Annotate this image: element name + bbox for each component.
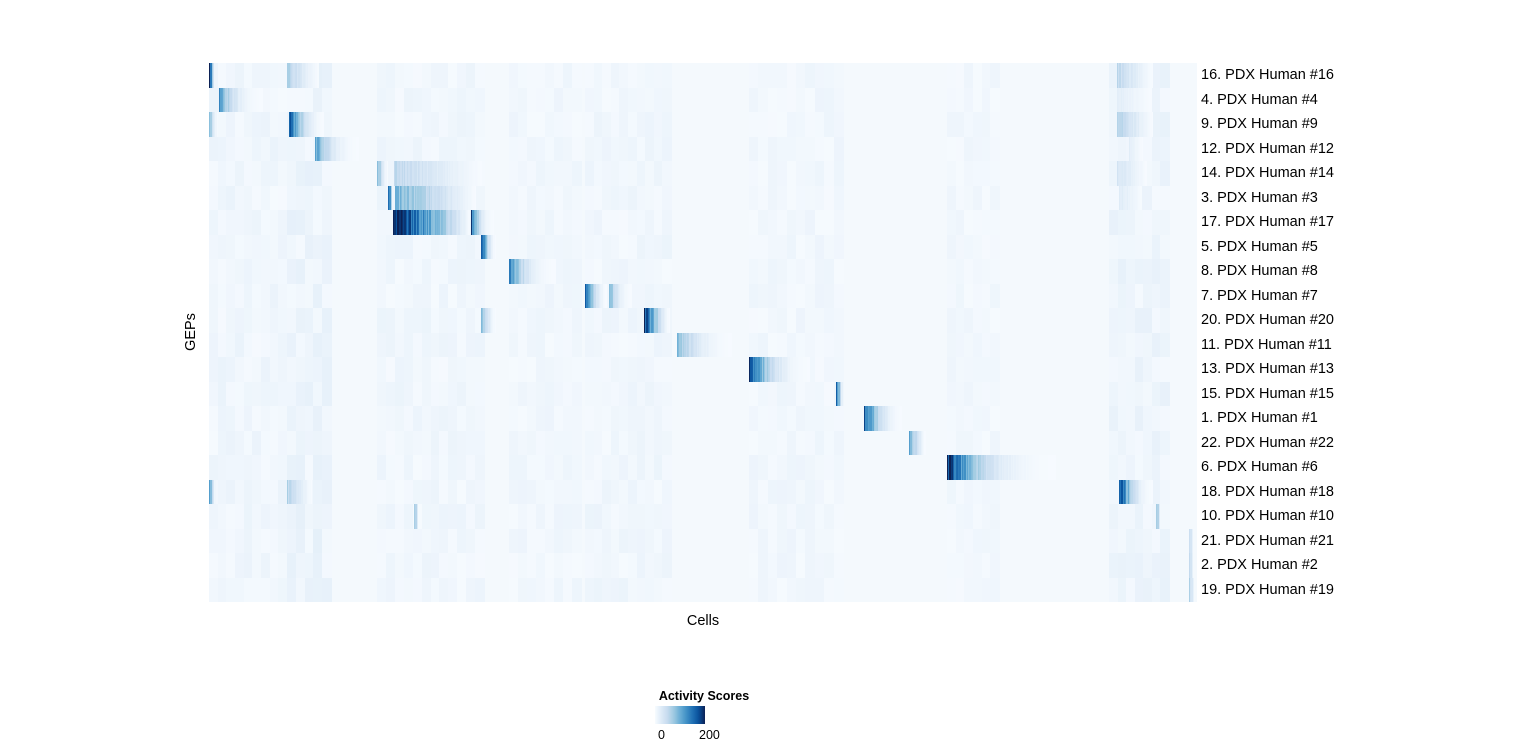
heatmap-cell — [475, 480, 485, 505]
heatmap-cell — [834, 137, 844, 162]
heatmap-cell — [834, 406, 844, 431]
heatmap-cell — [834, 553, 844, 578]
heatmap-cell — [990, 333, 999, 358]
heatmap-cell — [834, 235, 844, 260]
row-label: 3. PDX Human #3 — [1201, 191, 1318, 206]
heatmap-cell — [662, 88, 671, 113]
row-label: 19. PDX Human #19 — [1201, 583, 1334, 598]
heatmap-cell — [662, 553, 671, 578]
heatmap-cell — [322, 382, 331, 407]
heatmap-cell — [322, 259, 331, 284]
heatmap-cell — [990, 578, 999, 603]
heatmap-cell — [834, 357, 844, 382]
heatmap-cell — [572, 235, 582, 260]
heatmap-cell — [605, 284, 607, 309]
heatmap-cell — [572, 382, 582, 407]
heatmap-cell — [990, 382, 999, 407]
heatmap-cell — [841, 382, 843, 407]
heatmap-cell — [475, 259, 485, 284]
heatmap-cell — [900, 406, 902, 431]
heatmap-cell — [990, 357, 999, 382]
heatmap-cell — [1160, 284, 1169, 309]
heatmap-cell — [572, 284, 582, 309]
heatmap-cell — [480, 161, 482, 186]
heatmap-cell — [1160, 480, 1169, 505]
heatmap-cell — [572, 480, 582, 505]
heatmap-cell — [1160, 210, 1169, 235]
heatmap-cell — [475, 431, 485, 456]
heatmap-cell — [662, 529, 671, 554]
heatmap-cell — [572, 63, 582, 88]
heatmap-cell — [1159, 504, 1161, 529]
heatmap-cell — [572, 333, 582, 358]
heatmap-cell — [662, 112, 671, 137]
heatmap-row — [209, 235, 1197, 260]
heatmap-cell — [572, 210, 582, 235]
heatmap-cell — [1160, 431, 1169, 456]
heatmap-cell — [1192, 553, 1194, 578]
heatmap-cell — [834, 210, 844, 235]
heatmap-cell — [475, 504, 485, 529]
heatmap-cell — [834, 333, 844, 358]
heatmap-cell — [572, 112, 582, 137]
heatmap-cell — [1160, 63, 1169, 88]
heatmap-cell — [572, 553, 582, 578]
heatmap-cell — [357, 137, 359, 162]
heatmap-cell — [662, 186, 671, 211]
heatmap-cell — [1160, 578, 1169, 603]
row-label: 20. PDX Human #20 — [1201, 313, 1334, 328]
y-axis-label: GEPs — [183, 312, 199, 352]
heatmap-cell — [834, 455, 844, 480]
heatmap-cell — [1160, 333, 1169, 358]
row-label: 4. PDX Human #4 — [1201, 93, 1318, 108]
row-label: 21. PDX Human #21 — [1201, 534, 1334, 549]
heatmap-cell — [475, 406, 485, 431]
heatmap-cell — [475, 284, 485, 309]
heatmap-cell — [1160, 259, 1169, 284]
heatmap-cell — [322, 333, 331, 358]
heatmap-cell — [1160, 553, 1169, 578]
heatmap-row — [209, 161, 1197, 186]
heatmap-figure: GEPs Cells 16. PDX Human #164. PDX Human… — [0, 0, 1540, 743]
heatmap-cell — [322, 112, 324, 137]
heatmap-cell — [1192, 529, 1194, 554]
heatmap-cell — [990, 210, 999, 235]
heatmap-cell — [322, 480, 331, 505]
heatmap-row — [209, 137, 1197, 162]
heatmap-cell — [572, 259, 582, 284]
heatmap-cell — [1160, 357, 1169, 382]
heatmap-cell — [572, 186, 582, 211]
heatmap-cell — [662, 382, 671, 407]
row-label: 7. PDX Human #7 — [1201, 289, 1318, 304]
heatmap-cell — [834, 88, 844, 113]
x-axis-label: Cells — [209, 613, 1197, 629]
heatmap-cell — [1150, 88, 1152, 113]
heatmap-cell — [572, 357, 582, 382]
heatmap-cell — [475, 553, 485, 578]
heatmap-cell — [417, 504, 419, 529]
heatmap-cell — [475, 357, 485, 382]
heatmap-cell — [475, 529, 485, 554]
heatmap-cell — [572, 431, 582, 456]
heatmap-cell — [214, 63, 216, 88]
heatmap-row — [209, 480, 1197, 505]
heatmap-row — [209, 529, 1197, 554]
heatmap-cell — [834, 259, 844, 284]
heatmap-cell — [990, 63, 999, 88]
row-label: 13. PDX Human #13 — [1201, 362, 1334, 377]
heatmap-cell — [475, 382, 485, 407]
heatmap-row — [209, 406, 1197, 431]
heatmap-row — [209, 112, 1197, 137]
heatmap-cell — [834, 63, 844, 88]
heatmap-cell — [322, 308, 331, 333]
colorbar-tick-label: 0 — [658, 728, 665, 742]
heatmap-cell — [475, 455, 485, 480]
heatmap-cell — [322, 235, 331, 260]
heatmap-cell — [322, 529, 331, 554]
heatmap-cell — [1160, 235, 1169, 260]
row-label: 17. PDX Human #17 — [1201, 215, 1334, 230]
heatmap-cell — [475, 186, 485, 211]
heatmap-cell — [1160, 406, 1169, 431]
heatmap-cell — [214, 480, 216, 505]
heatmap-cell — [990, 88, 999, 113]
heatmap-row — [209, 63, 1197, 88]
heatmap-cell — [1054, 455, 1056, 480]
heatmap-cell — [572, 455, 582, 480]
heatmap-cell — [495, 308, 497, 333]
heatmap-cell — [834, 578, 844, 603]
heatmap-cell — [834, 480, 844, 505]
heatmap-cell — [990, 284, 999, 309]
heatmap-row — [209, 333, 1197, 358]
heatmap-cell — [572, 504, 582, 529]
heatmap-cell — [662, 455, 671, 480]
heatmap-cell — [1160, 455, 1169, 480]
heatmap-cell — [572, 88, 582, 113]
row-label: 12. PDX Human #12 — [1201, 142, 1334, 157]
row-label: 16. PDX Human #16 — [1201, 68, 1334, 83]
row-label: 11. PDX Human #11 — [1201, 338, 1332, 353]
heatmap-cell — [662, 210, 671, 235]
heatmap-cell — [990, 161, 999, 186]
heatmap-row — [209, 504, 1197, 529]
heatmap-row — [209, 284, 1197, 309]
heatmap-cell — [1142, 137, 1144, 162]
heatmap-cell — [475, 578, 485, 603]
heatmap-cell — [834, 431, 844, 456]
heatmap-cell — [990, 529, 999, 554]
heatmap-cell — [322, 431, 331, 456]
heatmap-cell — [475, 137, 485, 162]
heatmap-cell — [322, 63, 331, 88]
heatmap-cell — [990, 259, 999, 284]
heatmap-cell — [572, 161, 582, 186]
heatmap-cell — [1160, 161, 1169, 186]
heatmap-cell — [495, 235, 497, 260]
heatmap-cell — [990, 406, 999, 431]
heatmap-cell — [834, 112, 844, 137]
heatmap-cell — [322, 284, 331, 309]
heatmap-cell — [662, 357, 671, 382]
heatmap-cell — [322, 210, 331, 235]
heatmap-cell — [493, 210, 495, 235]
colorbar-title: Activity Scores — [554, 689, 854, 703]
heatmap-row — [209, 431, 1197, 456]
heatmap-cell — [261, 88, 263, 113]
heatmap-cell — [1160, 529, 1169, 554]
heatmap-cell — [662, 504, 671, 529]
heatmap-cell — [808, 357, 810, 382]
heatmap-cell — [990, 480, 999, 505]
row-label: 5. PDX Human #5 — [1201, 240, 1318, 255]
heatmap-cell — [990, 186, 999, 211]
heatmap-cell — [662, 431, 671, 456]
heatmap-cell — [322, 88, 331, 113]
colorbar-gradient — [655, 706, 705, 724]
heatmap-cell — [475, 333, 485, 358]
heatmap-row — [209, 210, 1197, 235]
heatmap-row — [209, 357, 1197, 382]
heatmap-cell — [1145, 161, 1147, 186]
heatmap-cell — [572, 137, 582, 162]
heatmap-cell — [924, 431, 926, 456]
heatmap-cell — [834, 504, 844, 529]
heatmap-cell — [990, 431, 999, 456]
heatmap-cell — [662, 161, 671, 186]
heatmap-cell — [662, 235, 671, 260]
heatmap-cell — [322, 553, 331, 578]
heatmap-cell — [1160, 504, 1169, 529]
row-label: 8. PDX Human #8 — [1201, 264, 1318, 279]
heatmap-row — [209, 88, 1197, 113]
row-label: 9. PDX Human #9 — [1201, 117, 1318, 132]
heatmap-cell — [662, 284, 671, 309]
heatmap-cell — [834, 529, 844, 554]
heatmap-cell — [662, 406, 671, 431]
heatmap-cell — [1193, 578, 1195, 603]
heatmap-cell — [1140, 186, 1142, 211]
heatmap-cell — [322, 455, 331, 480]
heatmap-cell — [990, 504, 999, 529]
heatmap-cell — [990, 112, 999, 137]
row-label: 6. PDX Human #6 — [1201, 460, 1318, 475]
heatmap-cell — [572, 529, 582, 554]
heatmap-cell — [834, 186, 844, 211]
row-label: 10. PDX Human #10 — [1201, 509, 1334, 524]
colorbar-tick-label: 200 — [699, 728, 720, 742]
heatmap-cell — [475, 88, 485, 113]
heatmap-cell — [1160, 382, 1169, 407]
heatmap-cell — [475, 112, 485, 137]
heatmap-row — [209, 553, 1197, 578]
heatmap-row — [209, 308, 1197, 333]
heatmap-cell — [1160, 308, 1169, 333]
heatmap-cell — [662, 480, 671, 505]
heatmap-cell — [662, 259, 671, 284]
heatmap-cell — [1160, 137, 1169, 162]
row-label: 14. PDX Human #14 — [1201, 166, 1334, 181]
heatmap-cell — [391, 186, 393, 211]
heatmap-cell — [662, 63, 671, 88]
heatmap-row — [209, 259, 1197, 284]
heatmap-cell — [1151, 480, 1153, 505]
heatmap-cell — [1160, 112, 1169, 137]
heatmap-cell — [311, 480, 313, 505]
heatmap-cell — [572, 578, 582, 603]
heatmap-cell — [662, 578, 671, 603]
heatmap-cell — [630, 284, 632, 309]
heatmap-row — [209, 455, 1197, 480]
heatmap-cell — [322, 406, 331, 431]
heatmap-cell — [387, 161, 389, 186]
heatmap-cell — [322, 578, 331, 603]
heatmap-cell — [322, 504, 331, 529]
row-label-list: 16. PDX Human #164. PDX Human #49. PDX H… — [1201, 63, 1501, 602]
heatmap-cell — [322, 357, 331, 382]
heatmap-cell — [990, 137, 999, 162]
heatmap-cell — [834, 284, 844, 309]
heatmap-cell — [322, 161, 331, 186]
heatmap-cell — [572, 308, 582, 333]
row-label: 22. PDX Human #22 — [1201, 436, 1334, 451]
row-label: 1. PDX Human #1 — [1201, 411, 1318, 426]
heatmap-cell — [317, 63, 319, 88]
heatmap-cell — [669, 308, 671, 333]
heatmap-cell — [1152, 63, 1154, 88]
row-label: 2. PDX Human #2 — [1201, 558, 1318, 573]
heatmap-cell — [990, 235, 999, 260]
heatmap-cell — [217, 112, 219, 137]
heatmap-cell — [990, 308, 999, 333]
heatmap-cell — [572, 406, 582, 431]
heatmap-cell — [322, 186, 331, 211]
heatmap-cell — [1160, 88, 1169, 113]
heatmap-plot-area — [209, 63, 1197, 602]
row-label: 18. PDX Human #18 — [1201, 485, 1334, 500]
heatmap-cell — [554, 259, 556, 284]
heatmap-row — [209, 382, 1197, 407]
heatmap-cell — [730, 333, 732, 358]
heatmap-cell — [662, 137, 671, 162]
heatmap-cell — [1160, 186, 1169, 211]
heatmap-row — [209, 186, 1197, 211]
row-label: 15. PDX Human #15 — [1201, 387, 1334, 402]
heatmap-cell — [834, 308, 844, 333]
heatmap-cell — [662, 333, 671, 358]
heatmap-cell — [475, 63, 485, 88]
heatmap-row — [209, 578, 1197, 603]
heatmap-cell — [834, 161, 844, 186]
heatmap-cell — [475, 186, 477, 211]
heatmap-cell — [990, 553, 999, 578]
heatmap-cell — [1152, 112, 1154, 137]
